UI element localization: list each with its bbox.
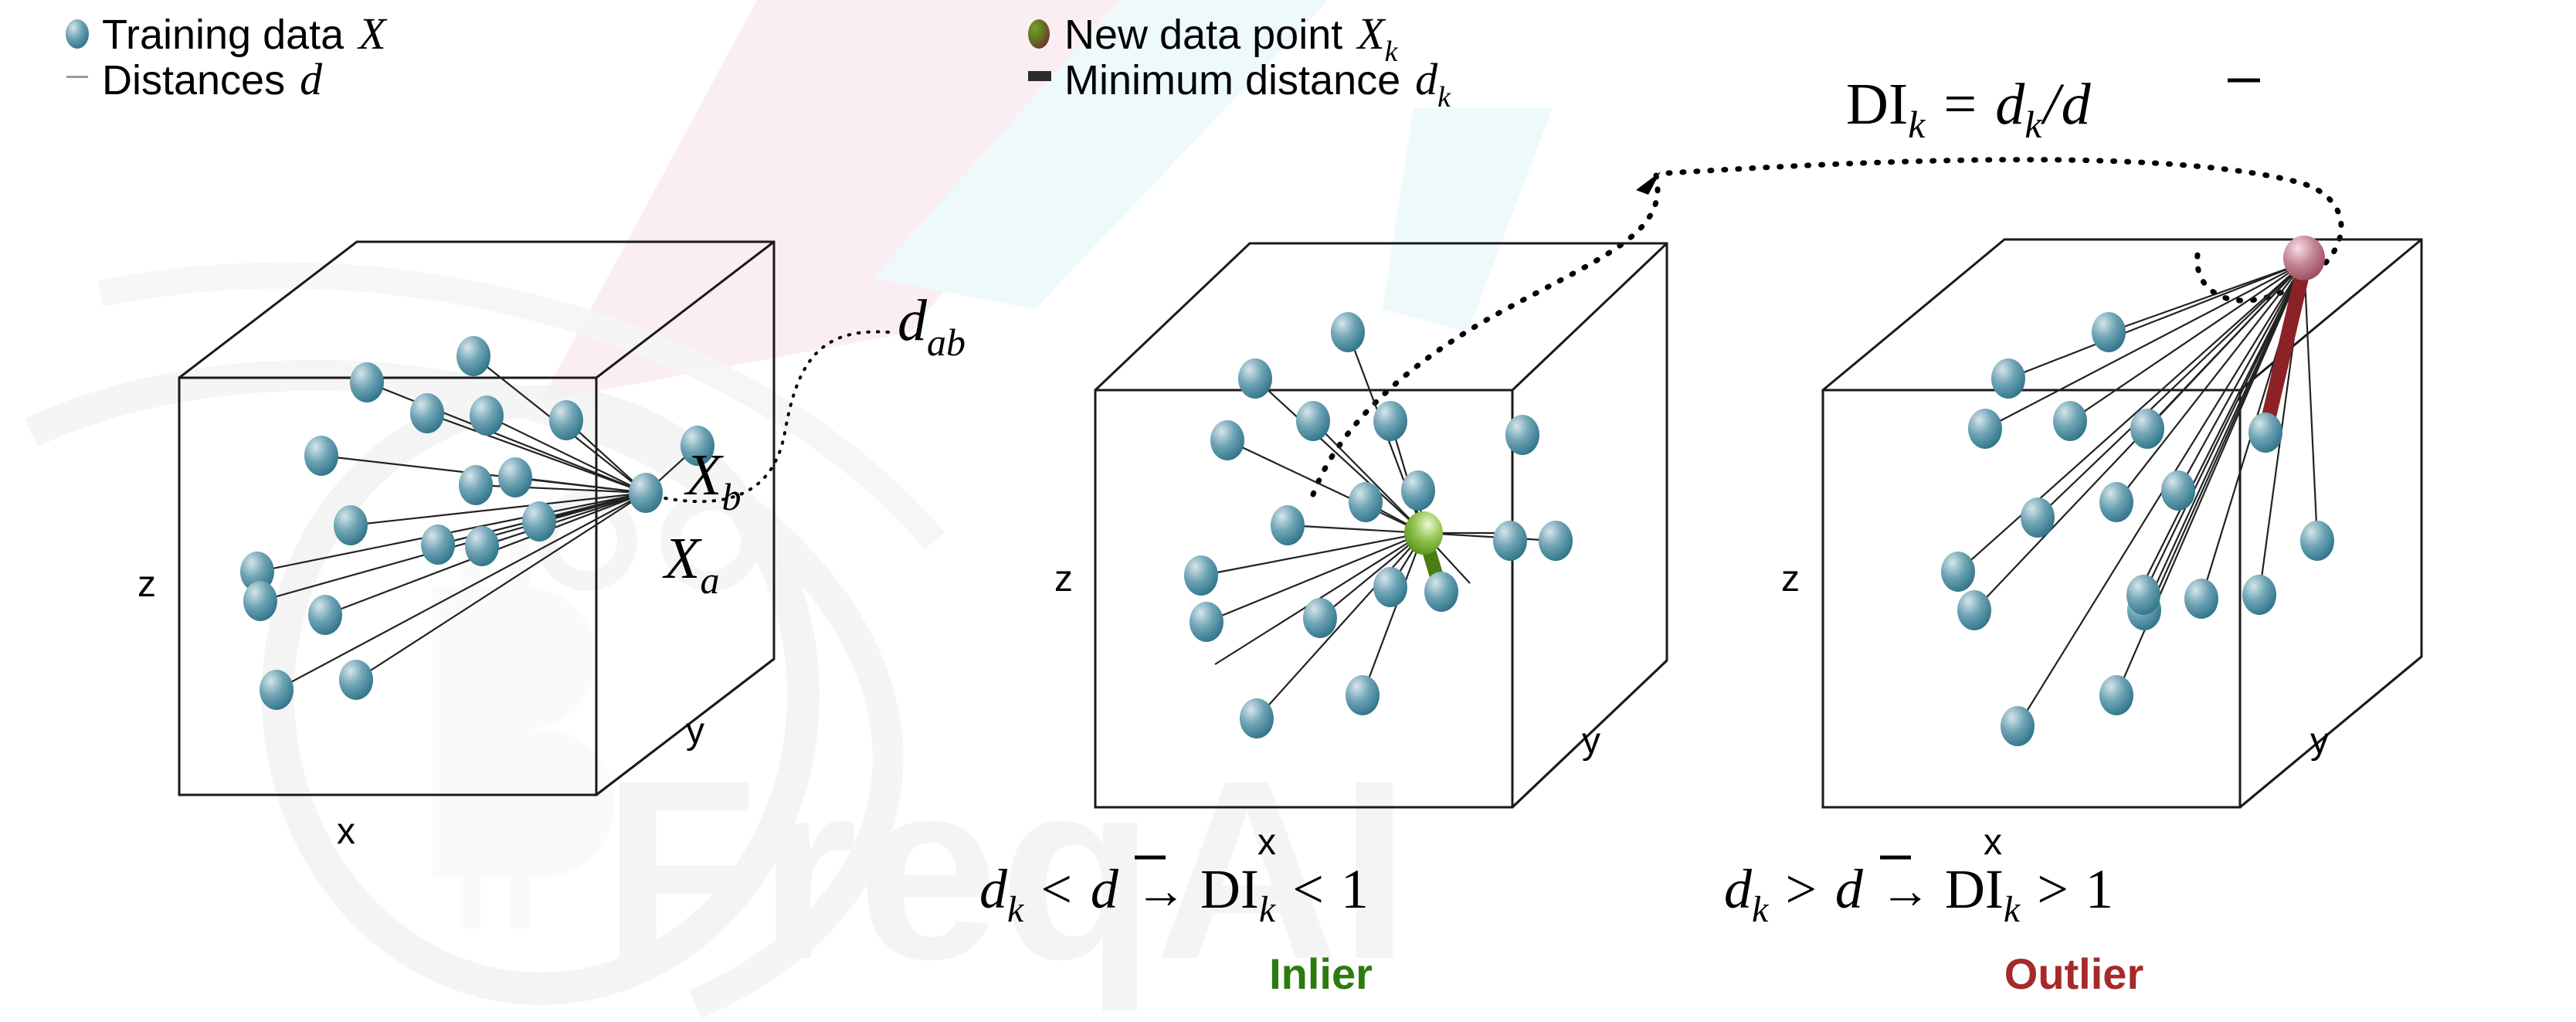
data-point: [2092, 312, 2126, 352]
axis-label-z: z: [1781, 559, 1800, 599]
training-points: [1184, 312, 1573, 738]
caption-formula-outlier: dk>d→DIk>1: [1724, 858, 2113, 930]
axis-label-z: z: [137, 564, 156, 605]
data-point: [339, 660, 373, 700]
data-point: [308, 595, 342, 635]
thin-dash-marker: [66, 76, 88, 78]
teal-dot-marker: [66, 19, 89, 49]
data-point: [1957, 590, 1991, 630]
svg-text:DIk=dk/d: DIk=dk/d: [1846, 72, 2092, 146]
data-point: [2001, 706, 2035, 746]
data-point: [1346, 675, 1380, 715]
data-point: [1373, 401, 1407, 441]
dk-to-outlier-connector: [1668, 160, 2341, 300]
panel-outlier: z y x dk>d→DIk>1 Outlier: [1724, 236, 2422, 998]
data-point: [350, 362, 384, 402]
data-point: [334, 505, 368, 545]
data-point: [1401, 470, 1435, 511]
data-point: [421, 525, 455, 565]
axis-label-y: y: [1582, 721, 1600, 762]
verdict-label-outlier: Outlier: [2004, 949, 2143, 998]
data-point: [2130, 409, 2164, 449]
data-point: [2099, 482, 2133, 522]
legend-right: New data point Xk Minimum distance dk: [1028, 8, 1451, 114]
data-point: [1331, 312, 1365, 352]
diagram-root: FreqAI Training data X Distances d New d…: [0, 0, 2576, 1022]
legend-item-distances: Distances d: [66, 54, 323, 104]
di-formula-numerator: d: [1995, 72, 2025, 137]
axis-label-x: x: [1257, 822, 1276, 863]
data-point: [2099, 675, 2133, 715]
legend-item-training-data: Training data X: [66, 8, 388, 59]
diagram-canvas: FreqAI Training data X Distances d New d…: [0, 0, 2576, 1022]
verdict-label-inlier: Inlier: [1269, 949, 1373, 998]
data-point: [2242, 575, 2276, 615]
legend-label-distances: Distances d: [102, 54, 323, 104]
data-point: [2053, 401, 2087, 441]
data-point: [465, 526, 499, 566]
point-label-xb: Xb: [684, 443, 741, 518]
axis-label-y: y: [686, 711, 704, 752]
data-point: [2126, 575, 2160, 615]
di-formula-lhs: DI: [1846, 72, 1908, 137]
di-formula-lhs-sub: k: [1908, 103, 1926, 146]
data-point: [1373, 567, 1407, 607]
data-point: [2021, 497, 2055, 538]
data-point: [1991, 358, 2025, 399]
data-point: [1349, 482, 1383, 522]
axis-label-z: z: [1054, 559, 1073, 599]
data-point: [410, 393, 444, 433]
data-point: [260, 670, 294, 710]
data-point: [1303, 598, 1337, 638]
di-formula-equals: =: [1943, 72, 1977, 137]
new-data-point-inlier: [1404, 511, 1443, 555]
data-point: [243, 581, 277, 621]
data-point: [1271, 505, 1305, 545]
background-watermark: FreqAI: [31, 0, 1553, 1014]
data-point: [304, 436, 338, 476]
data-point: [2184, 579, 2218, 619]
new-data-point-outlier: [2283, 236, 2325, 280]
distance-lines: [1958, 263, 2317, 726]
green-red-dot-marker: [1028, 19, 1050, 49]
data-point: [1493, 521, 1527, 561]
data-point: [1505, 415, 1539, 455]
data-point: [549, 400, 583, 440]
data-point: [470, 396, 504, 436]
data-point: [1190, 602, 1224, 642]
data-point: [1296, 401, 1330, 441]
data-point-xa: [629, 473, 663, 513]
legend-label-training-data: Training data X: [102, 8, 388, 59]
thick-dash-marker: [1028, 71, 1051, 81]
cube-wireframe: [1095, 243, 1667, 807]
data-point: [1941, 552, 1975, 592]
di-formula: DIk=dk/d: [1846, 72, 2260, 146]
point-label-xa: Xa: [662, 526, 719, 602]
data-point: [1210, 420, 1244, 460]
legend-left: Training data X Distances d: [66, 8, 388, 104]
data-point-nearest: [2248, 413, 2282, 453]
axis-label-y: y: [2310, 721, 2329, 762]
data-point: [459, 465, 493, 505]
data-point: [498, 457, 532, 497]
data-point: [1539, 521, 1573, 561]
data-point: [2300, 521, 2334, 561]
axis-label-x: x: [337, 811, 355, 852]
di-formula-denominator: d: [2062, 72, 2092, 137]
data-point: [2161, 470, 2195, 511]
data-point: [456, 336, 490, 376]
axis-label-x: x: [1984, 822, 2002, 863]
data-point: [1238, 358, 1272, 399]
di-formula-numerator-sub: k: [2024, 103, 2042, 146]
data-point: [1184, 555, 1218, 596]
data-point: [522, 501, 556, 542]
data-point: [1240, 698, 1274, 738]
data-point: [1968, 409, 2002, 449]
data-point-nearest: [1424, 572, 1458, 612]
